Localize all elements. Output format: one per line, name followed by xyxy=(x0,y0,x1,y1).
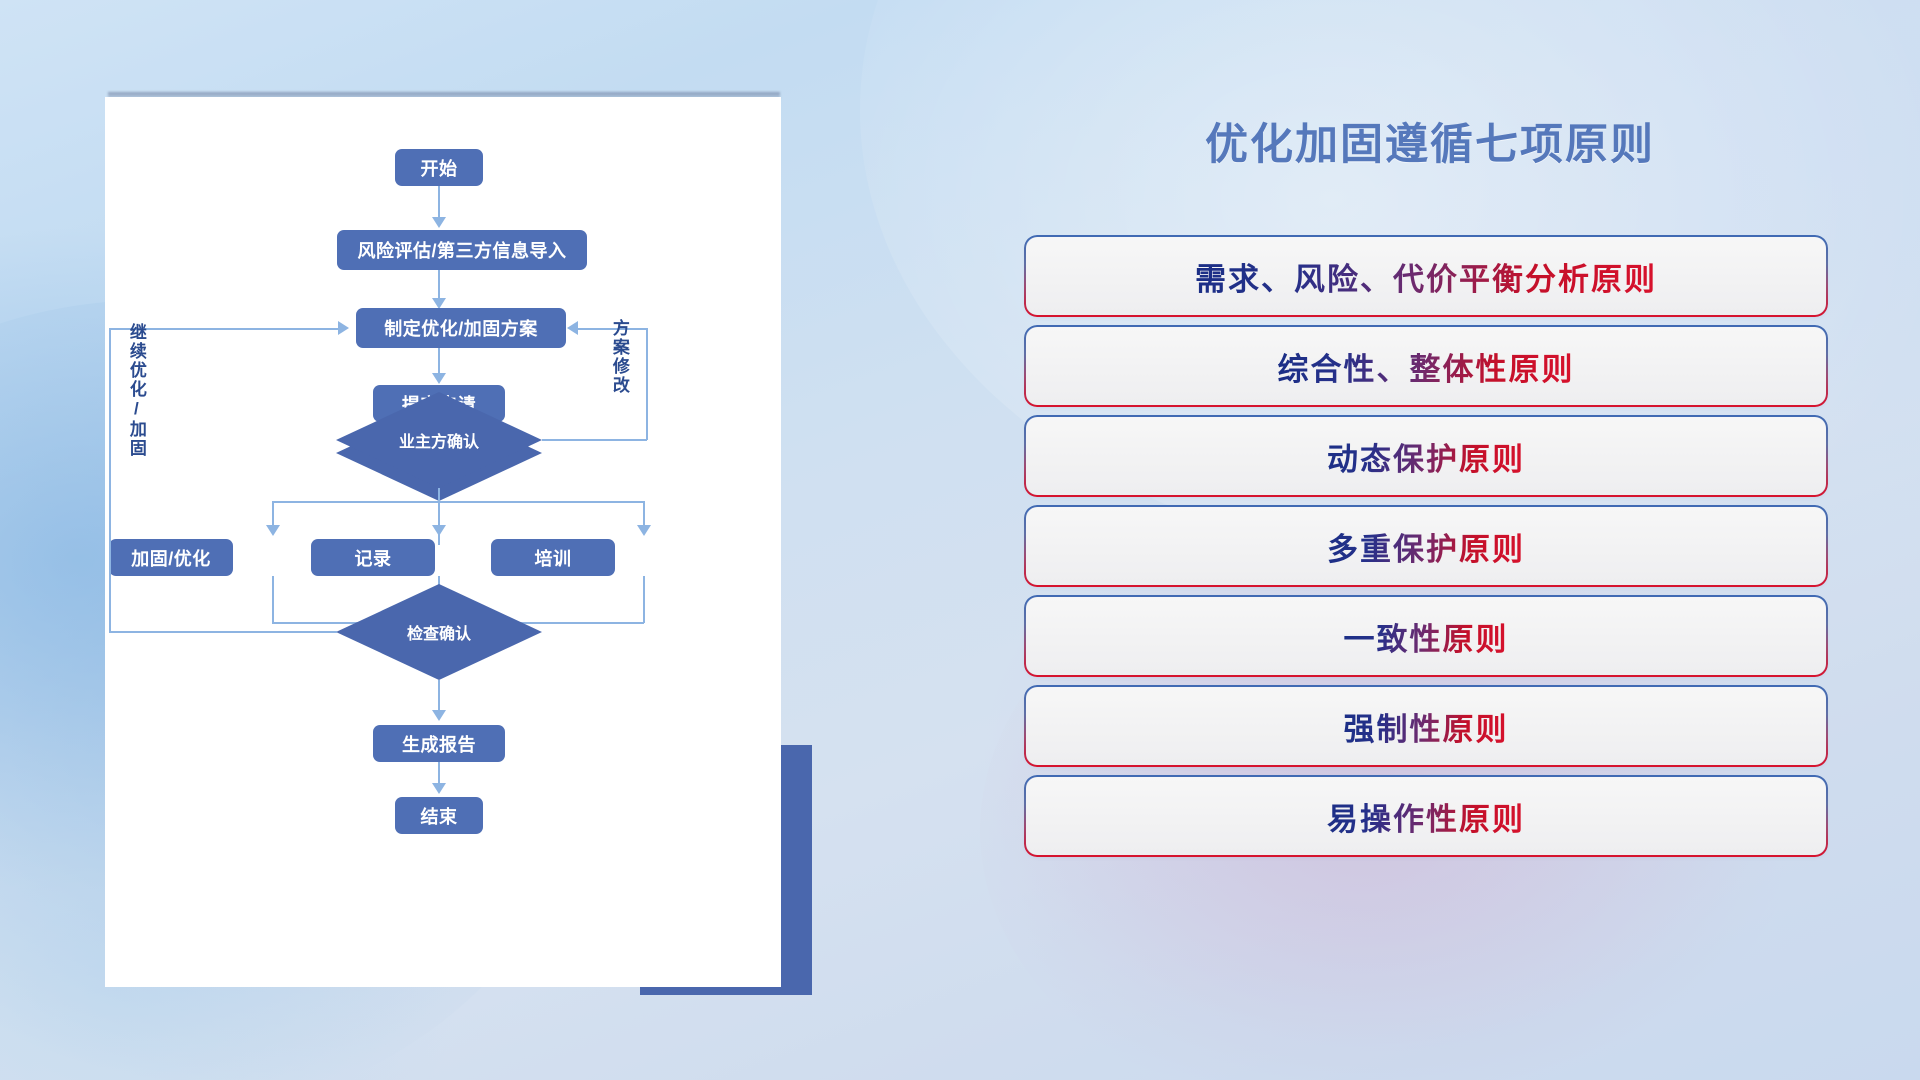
flow-node-record-label: 记录 xyxy=(355,545,392,571)
principle-card-label: 易操作性原则 xyxy=(1327,794,1525,839)
principle-card-label: 需求、风险、代价平衡分析原则 xyxy=(1195,254,1657,299)
flow-node-start-label: 开始 xyxy=(421,155,458,181)
flow-node-report-label: 生成报告 xyxy=(402,731,476,757)
arrowhead-to-record xyxy=(432,525,446,536)
flow-node-start[interactable]: 开始 xyxy=(395,149,483,186)
edge-owner-split-bar xyxy=(272,501,644,503)
principle-card[interactable]: 多重保护原则 xyxy=(1026,507,1826,585)
edge-reinforce-down xyxy=(272,576,274,623)
principle-card[interactable]: 综合性、整体性原则 xyxy=(1026,327,1826,405)
flow-node-risk-assessment-label: 风险评估/第三方信息导入 xyxy=(358,237,567,263)
flow-node-reinforce[interactable]: 加固/优化 xyxy=(109,539,233,576)
page-title-text: 优化加固遵循七项原则 xyxy=(1205,121,1655,169)
principle-card[interactable]: 需求、风险、代价平衡分析原则 xyxy=(1026,237,1826,315)
flow-decision-owner[interactable]: 业主方确认 xyxy=(336,392,542,488)
flow-node-plan-label: 制定优化/加固方案 xyxy=(384,315,538,341)
arrowhead-plan-to-submit xyxy=(432,373,446,384)
principle-card-label: 动态保护原则 xyxy=(1327,434,1525,479)
flow-node-reinforce-label: 加固/优化 xyxy=(131,545,211,571)
edge-owner-right-horizontal xyxy=(542,439,647,441)
flow-node-train[interactable]: 培训 xyxy=(491,539,615,576)
edge-left-loop-vertical xyxy=(109,328,111,632)
principle-card-label: 综合性、整体性原则 xyxy=(1278,344,1575,389)
arrowhead-right-loop-to-plan xyxy=(567,321,578,335)
flow-node-end-label: 结束 xyxy=(421,803,458,829)
flow-node-risk-assessment[interactable]: 风险评估/第三方信息导入 xyxy=(337,230,587,270)
principle-card[interactable]: 一致性原则 xyxy=(1026,597,1826,675)
principle-card[interactable]: 强制性原则 xyxy=(1026,687,1826,765)
slide-root: 开始 风险评估/第三方信息导入 制定优化/加固方案 提交申请 xyxy=(0,0,1920,1080)
arrowhead-check-to-report xyxy=(432,710,446,721)
edge-label-continue-optimize: 继续优化/加固 xyxy=(127,323,145,458)
principle-card-label: 强制性原则 xyxy=(1344,704,1509,749)
flow-node-end[interactable]: 结束 xyxy=(395,797,483,834)
flow-decision-check[interactable]: 检查确认 xyxy=(336,584,542,680)
page-title: 优化加固遵循七项原则 xyxy=(1020,110,1840,172)
edge-check-left-horizontal xyxy=(109,631,337,633)
edge-label-continue-optimize-text: 继续优化/加固 xyxy=(127,323,146,458)
arrowhead-to-train xyxy=(637,525,651,536)
arrowhead-report-to-end xyxy=(432,783,446,794)
edge-train-down xyxy=(643,576,645,623)
flow-node-report[interactable]: 生成报告 xyxy=(373,725,505,762)
principle-card[interactable]: 易操作性原则 xyxy=(1026,777,1826,855)
arrowhead-start-to-risk xyxy=(432,217,446,228)
edge-owner-right-vertical xyxy=(646,328,648,440)
arrowhead-to-reinforce xyxy=(266,525,280,536)
principles-list: 需求、风险、代价平衡分析原则 综合性、整体性原则 动态保护原则 多重保护原则 一… xyxy=(1026,237,1826,867)
flow-decision-check-label: 检查确认 xyxy=(407,620,471,644)
principle-card-label: 多重保护原则 xyxy=(1327,524,1525,569)
flowchart-panel: 开始 风险评估/第三方信息导入 制定优化/加固方案 提交申请 xyxy=(105,97,781,987)
flow-decision-owner-label: 业主方确认 xyxy=(399,428,479,452)
principle-card[interactable]: 动态保护原则 xyxy=(1026,417,1826,495)
flow-node-plan[interactable]: 制定优化/加固方案 xyxy=(356,308,566,348)
flow-node-record[interactable]: 记录 xyxy=(311,539,435,576)
arrowhead-left-loop-to-plan xyxy=(338,321,349,335)
edge-label-plan-revision: 方案修改 xyxy=(610,319,628,395)
edge-label-plan-revision-text: 方案修改 xyxy=(610,319,629,395)
principle-card-label: 一致性原则 xyxy=(1344,614,1509,659)
flow-node-train-label: 培训 xyxy=(535,545,572,571)
